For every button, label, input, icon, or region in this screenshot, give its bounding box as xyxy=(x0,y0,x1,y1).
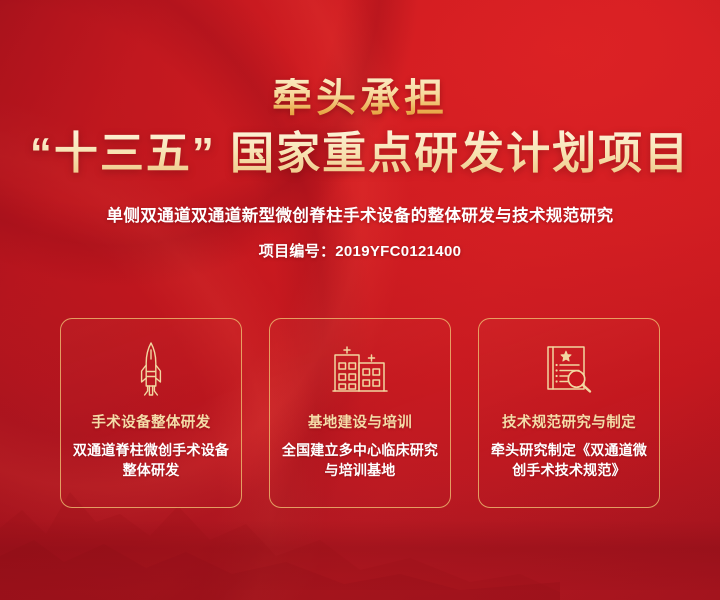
feature-card-title: 基地建设与培训 xyxy=(308,411,412,432)
page-title-primary: 牵头承担 xyxy=(272,78,448,118)
page-title-secondary: “十三五” 国家重点研发计划项目 xyxy=(30,130,690,178)
hospital-building-icon xyxy=(332,341,388,397)
feature-card-equipment-rnd[interactable]: 手术设备整体研发 双通道脊柱微创手术设备整体研发 xyxy=(60,318,242,508)
feature-card-body: 双通道脊柱微创手术设备整体研发 xyxy=(70,440,232,481)
feature-card-title: 技术规范研究与制定 xyxy=(502,411,636,432)
header: 牵头承担 “十三五” 国家重点研发计划项目 单侧双通道双通道新型微创脊柱手术设备… xyxy=(0,0,720,261)
title-line-2-wrap: “十三五” 国家重点研发计划项目 xyxy=(0,118,720,178)
project-subtitle: 单侧双通道双通道新型微创脊柱手术设备的整体研发与技术规范研究 xyxy=(0,202,720,226)
document-magnifier-icon xyxy=(543,341,595,397)
project-number: 项目编号：2019YFC0121400 xyxy=(0,240,720,261)
title-line-1-wrap: 牵头承担 xyxy=(0,78,720,118)
feature-card-list: 手术设备整体研发 双通道脊柱微创手术设备整体研发 xyxy=(60,318,660,508)
poster-content: 牵头承担 “十三五” 国家重点研发计划项目 单侧双通道双通道新型微创脊柱手术设备… xyxy=(0,0,720,600)
feature-card-body: 牵头研究制定《双通道微创手术技术规范》 xyxy=(488,440,650,481)
feature-card-body: 全国建立多中心临床研究与培训基地 xyxy=(279,440,441,481)
feature-card-title: 手术设备整体研发 xyxy=(91,411,210,432)
feature-card-technical-standard[interactable]: 技术规范研究与制定 牵头研究制定《双通道微创手术技术规范》 xyxy=(478,318,660,508)
feature-card-base-training[interactable]: 基地建设与培训 全国建立多中心临床研究与培训基地 xyxy=(269,318,451,508)
rocket-icon xyxy=(134,341,168,397)
